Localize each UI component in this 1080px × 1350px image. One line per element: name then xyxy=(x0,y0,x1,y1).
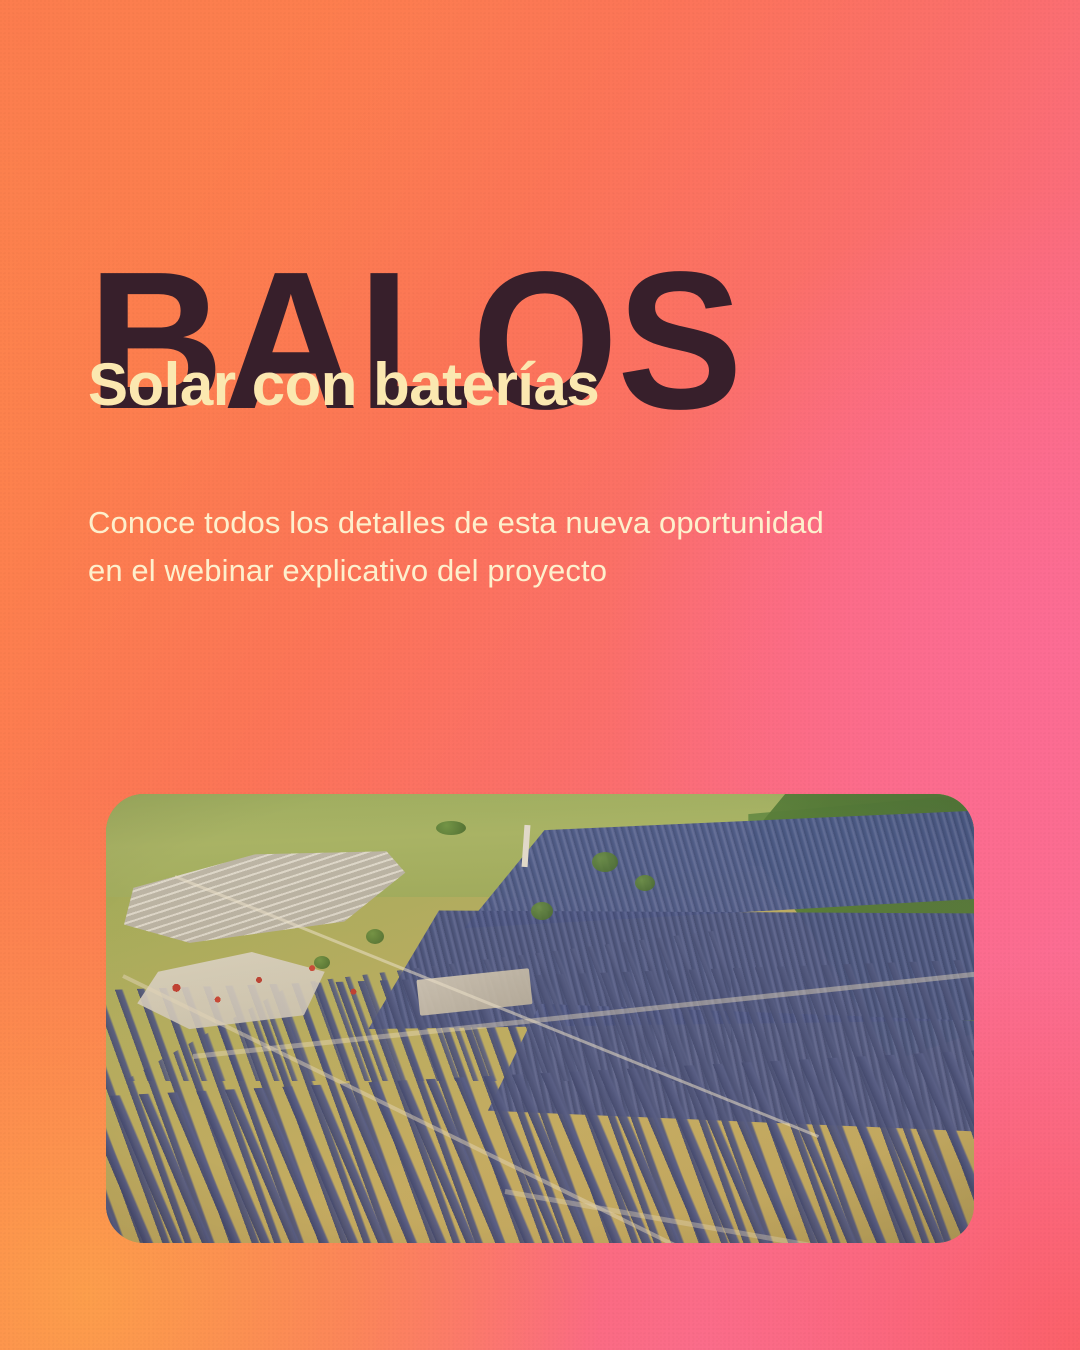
photo-tree xyxy=(366,929,384,944)
lede-line-2: en el webinar explicativo del proyecto xyxy=(88,547,928,595)
photo-tree xyxy=(314,956,330,969)
solar-farm-photo-card xyxy=(106,794,974,1243)
poster-canvas: BALOS Solar con baterías Conoce todos lo… xyxy=(0,0,1080,1350)
lede-paragraph: Conoce todos los detalles de esta nueva … xyxy=(88,499,928,595)
lede-line-1: Conoce todos los detalles de esta nueva … xyxy=(88,499,928,547)
photo-red-vehicles xyxy=(141,929,436,1028)
brand-subtitle: Solar con baterías xyxy=(88,355,988,415)
solar-farm-aerial-photo xyxy=(106,794,974,1243)
photo-tree xyxy=(531,902,553,920)
photo-tree xyxy=(436,821,466,835)
headline-block: BALOS Solar con baterías Conoce todos lo… xyxy=(88,268,988,595)
